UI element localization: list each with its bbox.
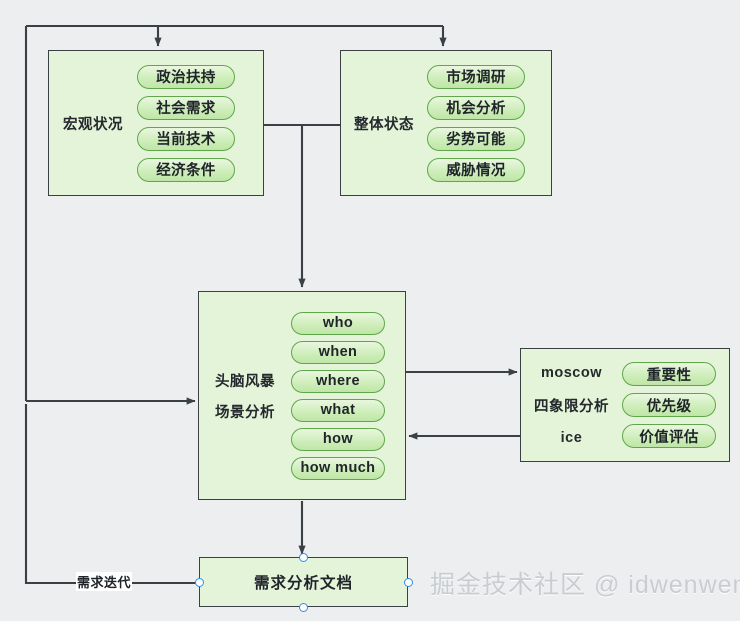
pill-opportunity-analysis[interactable]: 机会分析 bbox=[427, 96, 525, 120]
pill-threat-situation[interactable]: 威胁情况 bbox=[427, 158, 525, 182]
connection-handle-left[interactable] bbox=[195, 578, 204, 587]
pill-who[interactable]: who bbox=[291, 312, 385, 335]
pill-market-research[interactable]: 市场调研 bbox=[427, 65, 525, 89]
node-moscow-label-1: moscow bbox=[541, 365, 602, 381]
node-moscow-label-3: ice bbox=[561, 430, 583, 446]
pill-social-demand[interactable]: 社会需求 bbox=[137, 96, 235, 120]
wire-document-iteration bbox=[26, 404, 199, 583]
edge-label-iteration: 需求迭代 bbox=[76, 572, 132, 591]
node-macro[interactable]: 宏观状况 政治扶持 社会需求 当前技术 经济条件 bbox=[48, 50, 264, 196]
pill-priority[interactable]: 优先级 bbox=[622, 393, 716, 417]
watermark: 掘金技术社区 @ idwenwen bbox=[430, 565, 740, 601]
node-requirements-document[interactable]: 需求分析文档 bbox=[199, 557, 408, 607]
pill-how[interactable]: how bbox=[291, 428, 385, 451]
node-moscow-label-2: 四象限分析 bbox=[534, 395, 609, 416]
node-overall-label: 整体状态 bbox=[354, 113, 414, 134]
node-moscow[interactable]: moscow 四象限分析 ice 重要性 优先级 价值评估 bbox=[520, 348, 730, 462]
node-brainstorm-label-2: 场景分析 bbox=[215, 401, 275, 422]
connection-handle-top[interactable] bbox=[299, 553, 308, 562]
pill-weakness-possibility[interactable]: 劣势可能 bbox=[427, 127, 525, 151]
node-macro-label: 宏观状况 bbox=[63, 113, 123, 134]
pill-importance[interactable]: 重要性 bbox=[622, 362, 716, 386]
pill-economic-conditions[interactable]: 经济条件 bbox=[137, 158, 235, 182]
pill-when[interactable]: when bbox=[291, 341, 385, 364]
diagram-canvas: 宏观状况 政治扶持 社会需求 当前技术 经济条件 整体状态 市场调研 机会分析 … bbox=[0, 0, 740, 621]
node-brainstorm-label-1: 头脑风暴 bbox=[215, 370, 275, 391]
pill-what[interactable]: what bbox=[291, 399, 385, 422]
pill-how-much[interactable]: how much bbox=[291, 457, 385, 480]
connection-handle-right[interactable] bbox=[404, 578, 413, 587]
node-overall[interactable]: 整体状态 市场调研 机会分析 劣势可能 威胁情况 bbox=[340, 50, 552, 196]
pill-political-support[interactable]: 政治扶持 bbox=[137, 65, 235, 89]
connection-handle-bottom[interactable] bbox=[299, 603, 308, 612]
pill-current-technology[interactable]: 当前技术 bbox=[137, 127, 235, 151]
pill-where[interactable]: where bbox=[291, 370, 385, 393]
node-brainstorm[interactable]: 头脑风暴 场景分析 who when where what how how mu… bbox=[198, 291, 406, 500]
pill-value-assessment[interactable]: 价值评估 bbox=[622, 424, 716, 448]
node-requirements-document-label: 需求分析文档 bbox=[200, 571, 407, 593]
